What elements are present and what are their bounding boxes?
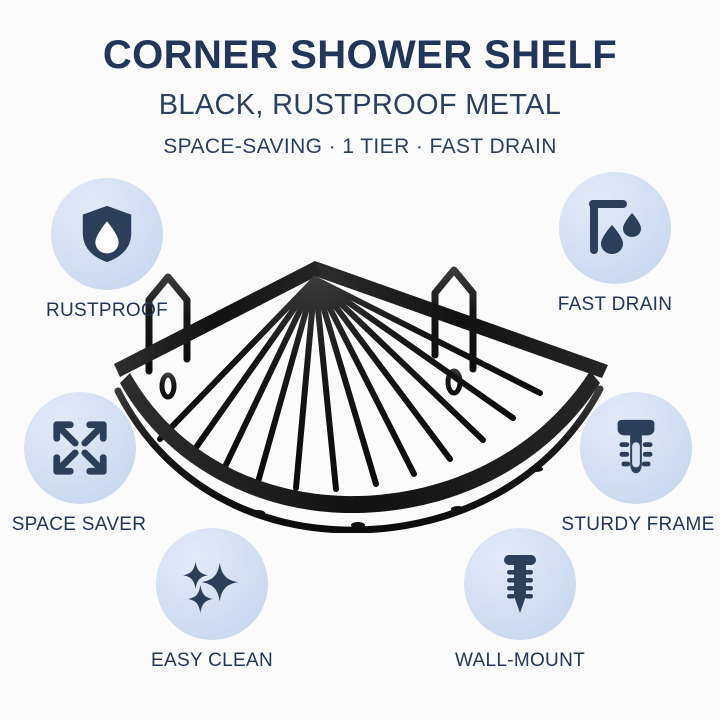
feature-badge-easy-clean[interactable]: EASY CLEAN: [132, 528, 292, 672]
feature-badge-sturdy-frame[interactable]: STURDY FRAME: [556, 392, 716, 536]
product-infographic: CORNER SHOWER SHELF BLACK, RUSTPROOF MET…: [0, 0, 720, 720]
bolt-icon: [607, 417, 665, 479]
feature-label: RUSTPROOF: [27, 300, 187, 322]
badge-disc: [24, 392, 136, 504]
feature-badge-rustproof[interactable]: RUSTPROOF: [27, 178, 187, 322]
shelf-front-band: [120, 371, 600, 513]
page-tagline: SPACE-SAVING · 1 TIER · FAST DRAIN: [0, 135, 720, 158]
shield-droplet-icon: [76, 203, 138, 265]
feature-label: EASY CLEAN: [132, 650, 292, 672]
shower-arm-droplets-icon: [583, 196, 647, 260]
badge-disc: [51, 178, 163, 290]
feature-badge-space-saver[interactable]: SPACE SAVER: [0, 392, 160, 536]
feature-label: WALL-MOUNT: [440, 650, 600, 672]
header: CORNER SHOWER SHELF BLACK, RUSTPROOF MET…: [0, 34, 720, 158]
shelf-grid-bars: [160, 279, 540, 489]
badge-disc: [464, 528, 576, 640]
expand-arrows-icon: [49, 417, 111, 479]
feature-badge-fast-drain[interactable]: FAST DRAIN: [535, 172, 695, 316]
page-title: CORNER SHOWER SHELF: [0, 34, 720, 76]
badge-disc: [559, 172, 671, 284]
sparkles-icon: [181, 553, 243, 615]
screw-icon: [495, 552, 545, 616]
badge-disc: [156, 528, 268, 640]
feature-badge-wall-mount[interactable]: WALL-MOUNT: [440, 528, 600, 672]
feature-label: FAST DRAIN: [535, 294, 695, 316]
page-subtitle: BLACK, RUSTPROOF METAL: [0, 90, 720, 122]
badge-disc: [580, 392, 692, 504]
